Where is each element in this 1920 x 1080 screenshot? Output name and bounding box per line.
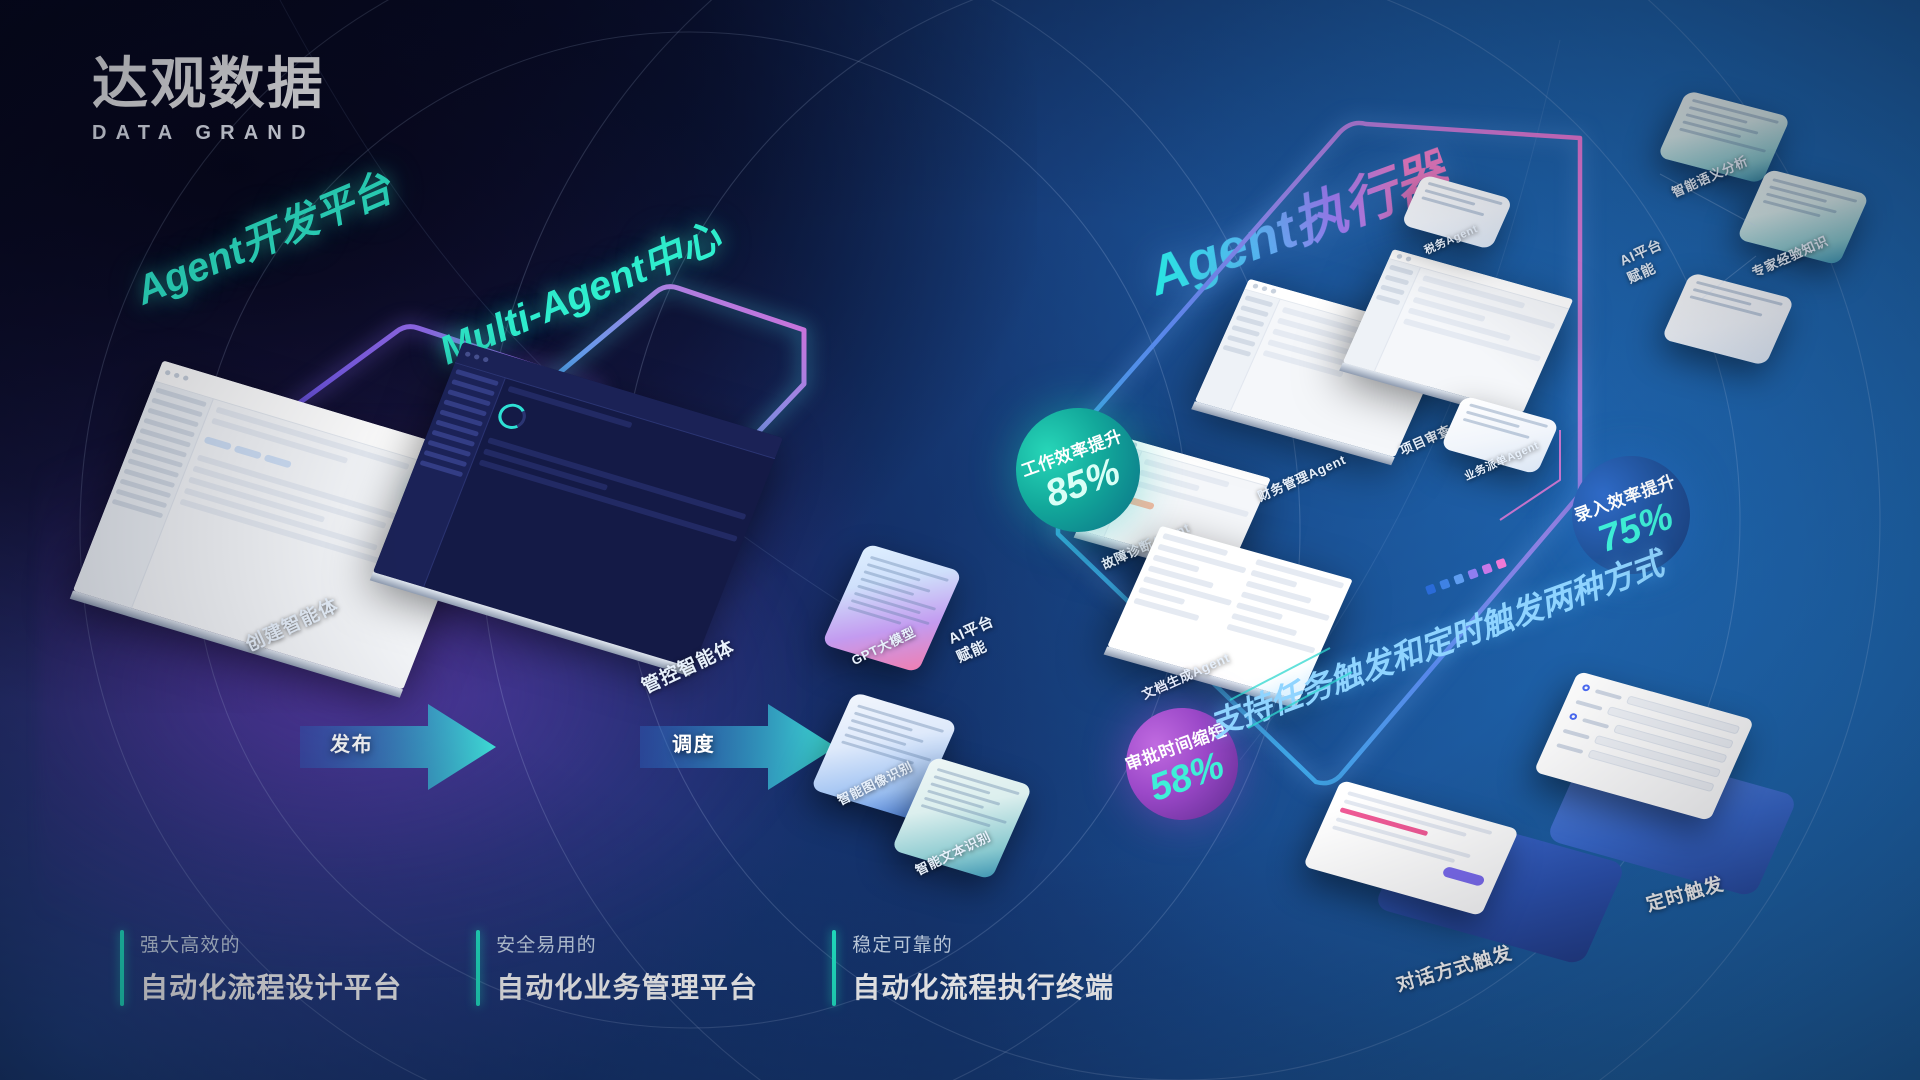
infographic-canvas: 达观数据 DATA GRAND Agent开发平台 bbox=[0, 0, 1920, 1080]
background-vignette bbox=[0, 0, 1920, 1080]
